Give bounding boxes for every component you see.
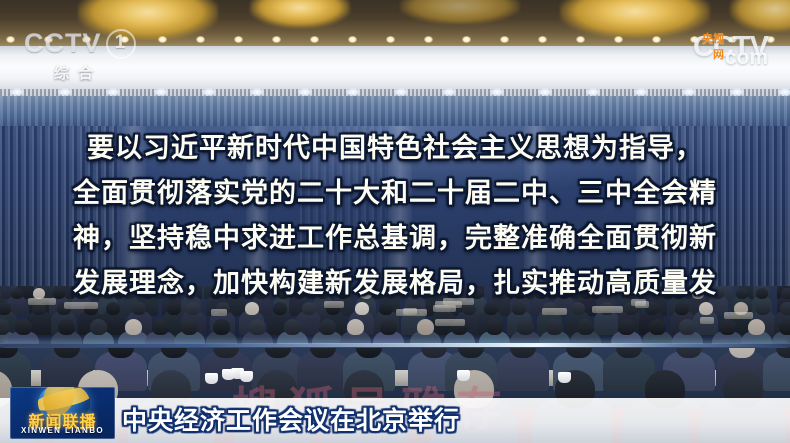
attendee-head — [577, 319, 594, 335]
teacup — [558, 372, 571, 383]
attendee-head — [535, 288, 547, 299]
desk — [28, 298, 56, 305]
attendee-head — [255, 288, 267, 299]
attendee-head — [712, 288, 724, 299]
attendee-head — [781, 288, 790, 299]
attendee-head — [600, 288, 612, 299]
attendee-head — [317, 288, 329, 299]
attendee-head — [185, 288, 197, 299]
desk — [64, 302, 98, 309]
chandelier-icon — [400, 0, 520, 24]
attendee-head — [277, 288, 289, 299]
attendee-head — [692, 288, 704, 299]
attendee-head — [302, 302, 316, 315]
attendee-head — [546, 319, 563, 335]
news-headline: 中央经济工作会议在北京举行 — [122, 401, 460, 437]
attendee-head — [675, 302, 689, 315]
attendee-head — [125, 319, 142, 335]
attendee-head — [496, 288, 508, 299]
attendee-head — [779, 319, 790, 335]
attendee-head — [319, 319, 336, 335]
desk — [700, 317, 714, 324]
desk — [724, 312, 753, 319]
attendee-head — [512, 302, 526, 315]
attendee-head — [430, 288, 442, 299]
attendee-head — [181, 319, 198, 335]
attendee-head — [273, 302, 287, 315]
teacup — [205, 373, 218, 384]
attendee-head — [558, 288, 570, 299]
attendee-head — [625, 288, 637, 299]
desk — [211, 309, 227, 316]
attendee-head — [756, 288, 768, 299]
attendee-head — [673, 288, 685, 299]
attendee-head — [360, 288, 372, 299]
attendee-head — [58, 319, 75, 335]
attendee-head — [11, 288, 23, 299]
attendee-head — [293, 288, 305, 299]
wall-light-glow — [0, 126, 790, 196]
attendee-head — [514, 288, 526, 299]
attendee-head — [245, 302, 259, 315]
attendee-head — [486, 319, 503, 335]
teacup — [240, 371, 253, 382]
attendee-head — [417, 319, 434, 335]
attendee-head — [15, 319, 32, 335]
desk — [592, 306, 623, 313]
chandelier-icon — [560, 0, 710, 38]
audience-upper-rows — [0, 286, 790, 344]
teacup — [457, 370, 470, 381]
ceiling-band — [0, 0, 790, 52]
desk — [324, 301, 344, 308]
attendee-head — [284, 319, 301, 335]
attendee-head — [780, 302, 790, 315]
lower-third-bar: 新闻联播 XINWEN LIANBO 中央经济工作会议在北京举行 — [0, 398, 790, 443]
attendee-head — [123, 288, 135, 299]
attendee-head — [649, 319, 666, 335]
upper-wall — [0, 96, 790, 128]
attendee-head — [167, 302, 181, 315]
attendee-head — [75, 288, 87, 299]
attendee-head — [379, 302, 393, 315]
xinwen-lianbo-logo: 新闻联播 XINWEN LIANBO — [10, 387, 115, 439]
attendee-head — [748, 319, 765, 335]
attendee-head — [132, 302, 146, 315]
attendee-head — [651, 288, 663, 299]
attendee-head — [756, 302, 770, 315]
attendee-head — [571, 302, 585, 315]
conference-hall-scene — [0, 0, 790, 443]
desk — [435, 319, 465, 326]
attendee-head — [618, 319, 635, 335]
attendee-head — [347, 319, 364, 335]
attendee-head — [736, 288, 748, 299]
teacup — [222, 369, 235, 380]
attendee-head — [384, 288, 396, 299]
attendee-head — [719, 319, 736, 335]
attendee-head — [380, 319, 397, 335]
attendee-head — [679, 319, 696, 335]
attendee-head — [484, 302, 498, 315]
attendee-head — [249, 319, 266, 335]
attendee-head — [409, 288, 421, 299]
chandelier-icon — [250, 0, 350, 28]
attendee-head — [210, 288, 222, 299]
program-name-en: XINWEN LIANBO — [10, 426, 115, 435]
desk — [635, 301, 649, 308]
desk — [403, 308, 417, 315]
tv-broadcast-frame: CCTV 1 综合 CCTV 央视网 com 要以习近平新时代中国特色社会主义思… — [0, 0, 790, 443]
attendee-head — [213, 319, 230, 335]
attendee-head — [517, 319, 534, 335]
attendee-head — [102, 288, 114, 299]
attendee-head — [106, 302, 120, 315]
attendee-head — [337, 288, 349, 299]
attendee-head — [142, 288, 154, 299]
attendee-head — [229, 288, 241, 299]
chandelier-icon — [730, 0, 790, 32]
desk — [435, 301, 462, 308]
attendee-head — [152, 319, 169, 335]
attendee-head — [355, 302, 369, 315]
scene-divider-glow — [0, 343, 790, 347]
attendee-head — [166, 288, 178, 299]
desk — [542, 308, 567, 315]
attendee-head — [90, 319, 107, 335]
attendee-head — [580, 288, 592, 299]
attendee-head — [186, 302, 200, 315]
attendee-head — [699, 302, 713, 315]
